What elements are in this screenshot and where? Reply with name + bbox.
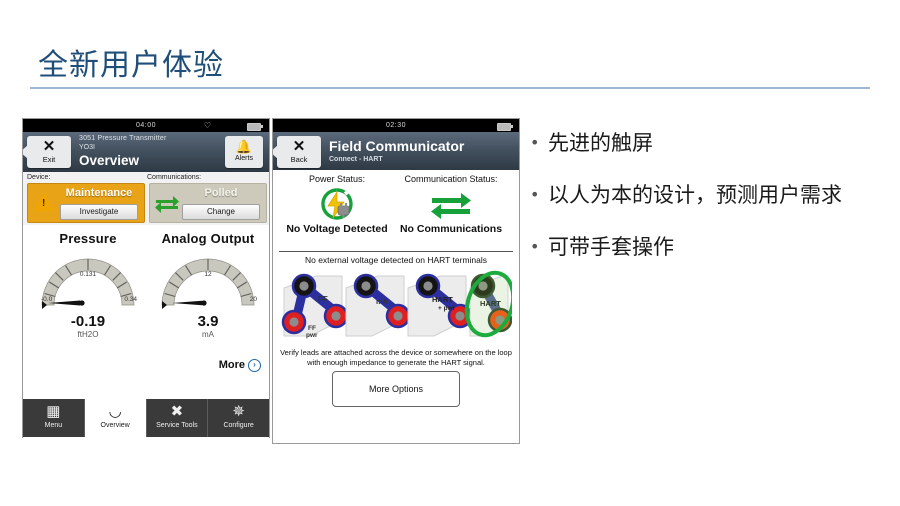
exit-button-label: Exit bbox=[27, 156, 71, 164]
bullet-item: 以人为本的设计，预测用户需求 bbox=[528, 180, 878, 210]
communications-status-card[interactable]: Polled Change bbox=[149, 183, 267, 223]
device-name: 3051 Pressure Transmitter bbox=[79, 134, 166, 143]
power-bolt-plug-icon bbox=[281, 187, 393, 223]
svg-text:HART: HART bbox=[480, 299, 501, 308]
back-button-label: Back bbox=[277, 156, 321, 164]
app-header: ✕ Exit 3051 Pressure Transmitter YO3I Ov… bbox=[23, 132, 269, 172]
gauge-title: Analog Output bbox=[149, 231, 267, 246]
bullet-item: 可带手套操作 bbox=[528, 232, 878, 262]
back-button[interactable]: ✕ Back bbox=[277, 136, 321, 168]
power-status-label: Power Status: bbox=[281, 174, 393, 184]
gauge-value: 3.9 bbox=[149, 313, 267, 330]
gauge-mid-label: 12 bbox=[149, 271, 267, 278]
bottom-nav-bar: ▦ Menu ◡ Overview ✖ Service Tools ✵ Conf… bbox=[23, 399, 269, 437]
header-texts: Field Communicator Connect - HART bbox=[329, 134, 464, 164]
title-divider bbox=[30, 87, 870, 89]
device-screenshot-overview: 04:00 ♡ ✕ Exit 3051 Pressure Transmitter… bbox=[22, 118, 270, 438]
communication-status-column: Communication Status: No Communications bbox=[395, 174, 507, 235]
header-texts: 3051 Pressure Transmitter YO3I Overview bbox=[79, 134, 166, 169]
device-status-card[interactable]: Maintenance Investigate bbox=[27, 183, 145, 223]
wrench-screwdriver-icon: ✖ bbox=[147, 399, 208, 421]
device-screenshot-communicator: 02:30 ✕ Back Field Communicator Connect … bbox=[272, 118, 520, 444]
status-bar-time: 02:30 bbox=[386, 122, 406, 129]
communicator-body: Power Status: No Voltage De bbox=[273, 170, 519, 442]
warning-triangle-icon bbox=[34, 193, 54, 211]
svg-text:pwr: pwr bbox=[306, 332, 318, 339]
terminal-diagram: FF FF pwr mA bbox=[279, 268, 513, 346]
close-icon: ✕ bbox=[277, 136, 321, 156]
bullet-item: 先进的触屏 bbox=[528, 128, 878, 158]
more-label: More bbox=[219, 359, 245, 371]
section-labels: Device: Communications: bbox=[23, 172, 269, 183]
svg-text:HART: HART bbox=[432, 295, 453, 304]
svg-text:FF: FF bbox=[318, 295, 328, 304]
exit-button[interactable]: ✕ Exit bbox=[27, 136, 71, 168]
nav-item-service-tools[interactable]: ✖ Service Tools bbox=[147, 399, 209, 437]
svg-text:FF: FF bbox=[308, 325, 316, 332]
power-status-value: No Voltage Detected bbox=[281, 223, 393, 235]
svg-text:mA: mA bbox=[376, 297, 389, 306]
nav-item-label: Service Tools bbox=[147, 421, 208, 430]
change-button[interactable]: Change bbox=[182, 204, 260, 220]
voltage-note: No external voltage detected on HART ter… bbox=[279, 255, 513, 265]
more-options-button[interactable]: More Options bbox=[332, 371, 460, 407]
battery-icon bbox=[247, 123, 261, 131]
screen-title: Field Communicator bbox=[329, 134, 464, 155]
status-bar-time: 04:00 bbox=[136, 122, 156, 129]
divider bbox=[279, 251, 513, 252]
status-bar: 04:00 ♡ bbox=[23, 119, 269, 132]
screen-title: Overview bbox=[79, 153, 166, 169]
gauge-title: Pressure bbox=[29, 231, 147, 246]
bullet-list: 先进的触屏 以人为本的设计，预测用户需求 可带手套操作 bbox=[528, 128, 878, 284]
battery-icon bbox=[497, 123, 511, 131]
gauge-analog-output: Analog Output bbox=[149, 231, 267, 339]
gauge-min-label: -0.0 bbox=[41, 296, 52, 303]
alerts-button-label: Alerts bbox=[225, 155, 263, 163]
device-section-label: Device: bbox=[27, 174, 50, 181]
help-text: Verify leads are attached across the dev… bbox=[279, 348, 513, 367]
gauge-overview-icon: ◡ bbox=[85, 399, 146, 421]
exchange-arrows-icon bbox=[154, 192, 180, 216]
power-status-column: Power Status: No Voltage De bbox=[281, 174, 393, 235]
communications-section-label: Communications: bbox=[147, 174, 201, 181]
status-columns: Power Status: No Voltage De bbox=[279, 174, 513, 250]
gauge-mid-label: 0.131 bbox=[29, 271, 147, 278]
nav-item-label: Configure bbox=[208, 421, 269, 430]
gauge-max-label: 0.34 bbox=[124, 296, 137, 303]
investigate-button[interactable]: Investigate bbox=[60, 204, 138, 220]
gauge-value: -0.19 bbox=[29, 313, 147, 330]
gauge-max-label: 20 bbox=[250, 296, 257, 303]
svg-text:+ pwr: + pwr bbox=[438, 305, 456, 312]
gauge-pressure: Pressure bbox=[29, 231, 147, 339]
status-bar: 02:30 bbox=[273, 119, 519, 132]
status-cards-row: Maintenance Investigate Polled Change bbox=[23, 183, 269, 225]
shield-icon: ♡ bbox=[204, 121, 211, 130]
device-tag: YO3I bbox=[79, 143, 166, 152]
device-status-text: Maintenance bbox=[58, 187, 140, 199]
communication-status-value: No Communications bbox=[395, 223, 507, 235]
communications-status-text: Polled bbox=[180, 187, 262, 199]
screen-subtitle: Connect - HART bbox=[329, 155, 464, 164]
list-menu-icon: ▦ bbox=[23, 399, 84, 421]
nav-item-label: Menu bbox=[23, 421, 84, 430]
nav-item-label: Overview bbox=[85, 421, 146, 430]
nav-item-configure[interactable]: ✵ Configure bbox=[208, 399, 269, 437]
chevron-right-circle-icon: › bbox=[248, 359, 261, 372]
gear-icon: ✵ bbox=[208, 399, 269, 421]
communication-status-label: Communication Status: bbox=[395, 174, 507, 184]
gauge-dial: 12 20 bbox=[149, 251, 267, 311]
nav-item-overview[interactable]: ◡ Overview bbox=[85, 399, 147, 437]
close-icon: ✕ bbox=[27, 136, 71, 156]
gauge-unit: mA bbox=[149, 330, 267, 339]
nav-item-menu[interactable]: ▦ Menu bbox=[23, 399, 85, 437]
exchange-arrows-icon bbox=[395, 187, 507, 223]
page-title: 全新用户体验 bbox=[38, 40, 224, 84]
app-header: ✕ Back Field Communicator Connect - HART bbox=[273, 132, 519, 170]
gauge-dial: 0.131 -0.0 0.34 bbox=[29, 251, 147, 311]
gauges-area: Pressure bbox=[23, 225, 269, 375]
alerts-button[interactable]: 🔔 Alerts bbox=[225, 136, 263, 168]
more-link[interactable]: More› bbox=[219, 359, 261, 372]
gauge-unit: ftH2O bbox=[29, 330, 147, 339]
bell-icon: 🔔 bbox=[225, 136, 263, 155]
